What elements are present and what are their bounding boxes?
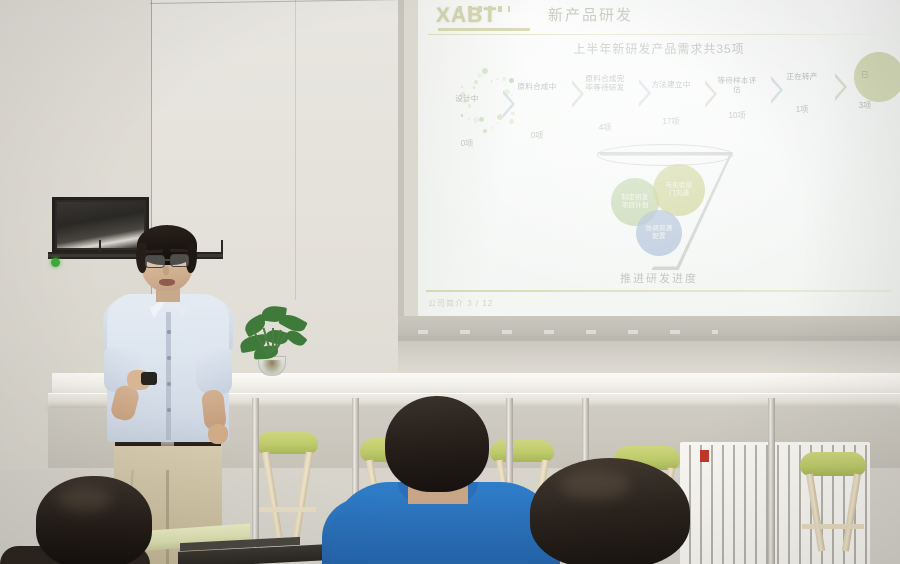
sparkle-dot (474, 80, 478, 84)
sparkle-dot (482, 68, 488, 74)
sparkle-dot (497, 122, 499, 124)
sparkle-dot (477, 73, 482, 78)
eyeglasses-lens-right (170, 254, 189, 267)
sparkle-dot (461, 86, 463, 88)
funnel-circle-3: 协调资源 配置 (636, 210, 682, 256)
sparkle-dot (496, 78, 499, 81)
hair-highlight (560, 470, 630, 500)
flow-stage-4: 方法建立中 (642, 80, 700, 89)
flow-stage-label: 原料合成完 毕等待研发 (576, 74, 634, 93)
partition-pole (768, 398, 775, 564)
flow-stage-label: 已 (836, 70, 894, 79)
presenter-hand-right (208, 424, 228, 444)
sparkle-dot (491, 126, 494, 129)
presenter-mouth (159, 279, 175, 286)
slide-logo: XABT (436, 4, 532, 34)
sparkle-dot (461, 114, 464, 117)
flow-stage-2: 原料合成中 (508, 82, 566, 91)
shirt-button (167, 382, 171, 386)
flow-stage-5: 等待样本评 估 (708, 76, 766, 95)
slide-title: 新产品研发 (548, 4, 633, 25)
sparkle-dot (509, 119, 514, 124)
flow-stage-count: 0项 (454, 138, 480, 149)
chevron-arrow-inner (503, 94, 512, 114)
eyeglasses-lens-left (145, 255, 165, 268)
flow-stage-label: 等待样本评 估 (708, 76, 766, 95)
funnel-rim (597, 144, 733, 166)
sparkle-dot (468, 104, 472, 108)
funnel-diagram: 制定研发 项目计划与实验部 门沟通协调资源 配置 (591, 148, 739, 273)
shirt-button (167, 330, 171, 334)
process-flow: 设计中0项原料合成中0项原料合成完 毕等待研发4项方法建立中17项等待样本评 估… (418, 60, 900, 145)
bar-stool-seat (256, 432, 318, 454)
sparkle-dot (483, 129, 487, 133)
trouser-seam (166, 470, 169, 564)
flow-stage-count: 0项 (524, 130, 550, 141)
radiator-label (700, 450, 709, 462)
slide-footer-text: 推进研发进度 (418, 270, 900, 286)
bar-stool-seat (800, 452, 866, 476)
sparkle-dot (468, 118, 470, 120)
sparkle-dot (491, 80, 493, 82)
flow-stage-count: 17项 (658, 116, 684, 127)
wall-seam (295, 0, 296, 300)
bar-stool-footrest (258, 507, 316, 512)
sparkle-dot (473, 86, 476, 89)
shirt-sleeve-right (196, 348, 232, 394)
chevron-arrow-inner (835, 77, 844, 97)
bar-stool-footrest (802, 524, 864, 529)
hair-highlight (58, 486, 112, 512)
flow-stage-3: 原料合成完 毕等待研发 (576, 74, 634, 93)
sparkle-dot (473, 117, 479, 123)
funnel-circle-2: 与实验部 门沟通 (653, 164, 705, 216)
slide: XABT 新产品研发 上半年新研发产品需求共35项 设计中0项原料合成中0项原料… (418, 0, 900, 316)
eyeglasses-bridge (164, 259, 171, 261)
audience-blue-head (385, 396, 489, 492)
slide-page-indicator: 公司简介 3 / 12 (428, 298, 493, 309)
sparkle-dot (502, 77, 506, 81)
projection-screen: XABT 新产品研发 上半年新研发产品需求共35项 设计中0项原料合成中0项原料… (418, 0, 900, 316)
logo-underline (438, 28, 530, 31)
flow-stage-label: 正在转产 (773, 72, 831, 81)
flow-stage-label: 方法建立中 (642, 80, 700, 89)
screen-base-trim (418, 330, 718, 334)
logo-dots-decoration (458, 6, 510, 12)
chevron-arrow-inner (771, 80, 780, 100)
flow-stage-label: 原料合成中 (508, 82, 566, 91)
flow-stage-count: 10项 (724, 110, 750, 121)
flow-stage-label: 设计中 (438, 94, 496, 103)
flow-stage-7: 已 (836, 70, 894, 79)
presenter-clicker (141, 372, 157, 385)
sparkle-dot (479, 117, 484, 122)
footer-divider (426, 290, 892, 292)
shirt-button (167, 408, 171, 412)
flow-stage-count: 3项 (852, 100, 878, 111)
slide-subtitle: 上半年新研发产品需求共35项 (418, 40, 900, 57)
flow-stage-count: 1项 (789, 104, 815, 115)
shirt-button (167, 356, 171, 360)
title-divider (428, 34, 888, 35)
presenter-nose (163, 266, 169, 275)
flow-stage-6: 正在转产 (773, 72, 831, 81)
bar-stool-seat (490, 440, 554, 462)
screen-shadow (398, 336, 900, 376)
flow-stage-count: 4项 (592, 122, 618, 133)
status-led-icon (51, 258, 60, 267)
flow-stage-1: 设计中 (438, 94, 496, 103)
plant-roots (262, 360, 282, 374)
presentation-photo: XABT 新产品研发 上半年新研发产品需求共35项 设计中0项原料合成中0项原料… (0, 0, 900, 564)
